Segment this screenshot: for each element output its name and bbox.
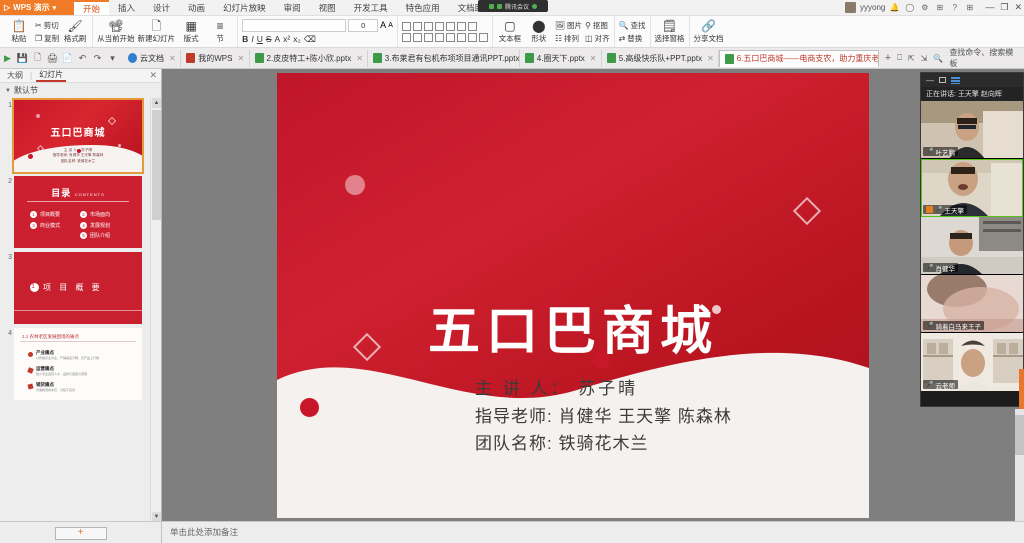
ribbon-group-share: 🔗 分享文档 — [690, 16, 728, 47]
work-area: 大纲 | 幻灯片 ✕ ▼ 默认节 1 五口巴商城 — [0, 69, 1024, 521]
help-icon[interactable]: ? — [949, 2, 960, 13]
meeting-indicator-icon — [532, 4, 537, 9]
slide-thumbnail-4[interactable]: 1.1 农林老区发展困境的痛点 产业痛点 以传统农业为主、产销渠道不畅，农产品上… — [14, 328, 142, 400]
thumb-title: 目录 CONTENTS — [14, 186, 142, 199]
selection-pane-label: 选择窗格 — [655, 33, 685, 44]
pptx-file-icon — [373, 53, 382, 63]
slide-thumbnail-list[interactable]: 1 五口巴商城 主 讲 人： 苏子晴 指导老师: 肖健华 王天擎 陈森林 — [0, 98, 161, 522]
panel-tab-separator: | — [30, 71, 32, 80]
participant-name: 肖健华 — [935, 263, 955, 273]
current-slide-canvas[interactable]: 五口巴商城 主 讲 人： 苏子晴 指导老师: 肖健华 王天擎 陈森林 团队名称:… — [277, 73, 869, 518]
decor-dot — [36, 114, 40, 118]
layout-label: 版式 — [184, 33, 199, 44]
doc-tab-2[interactable]: 2.皮皮特工+陈小欣.pptx ✕ — [250, 50, 368, 67]
paragraph-row-2 — [402, 33, 488, 42]
panel-tab-slides[interactable]: 幻灯片 — [36, 69, 66, 82]
decor-dot — [300, 398, 319, 417]
scroll-up-arrow-icon[interactable]: ▲ — [152, 98, 161, 108]
doc-tab-3[interactable]: 3.布莱君有包机布项项目通讯PPT.pptx ✕ — [368, 50, 520, 67]
section-label: 默认节 — [14, 85, 38, 96]
bullet-icon — [27, 367, 33, 373]
toc-item: 市场面向 — [90, 212, 110, 218]
avatar[interactable] — [845, 2, 856, 13]
selection-pane-icon: 🗒 — [662, 20, 677, 32]
notes-bar: + 单击此处添加备注 — [0, 521, 1024, 543]
minimize-button[interactable]: — — [985, 2, 994, 13]
participant-nametag-5: 🎤 云老师 — [923, 380, 958, 389]
close-icon[interactable]: ✕ — [707, 54, 714, 63]
picture-label: 图片 — [567, 20, 582, 31]
meeting-title: 腾讯会议 — [505, 2, 529, 11]
meeting-panel-titlebar: — — [921, 73, 1023, 87]
ribbon-tab-developer[interactable]: 开发工具 — [345, 0, 397, 15]
pptx-file-icon — [607, 53, 616, 63]
list-item[interactable]: 1 五口巴商城 主 讲 人： 苏子晴 指导老师: 肖健华 王天擎 陈森林 — [0, 98, 161, 174]
toc-badge: 4 — [80, 222, 87, 229]
scissors-icon: ✂ — [35, 21, 42, 30]
doc-tab-label: 云文档 — [140, 53, 164, 64]
vertical-align-icon[interactable] — [457, 33, 466, 42]
expand-ribbon-icon[interactable]: ⇲ — [921, 54, 928, 63]
search-icon: 🔍 — [619, 21, 629, 30]
ribbon-group-paragraph — [398, 16, 493, 47]
byline-presenter: 主 讲 人： 苏子晴 — [475, 375, 732, 403]
item-desc: 缺少专业运营人才，品牌打造能力薄弱 — [36, 372, 87, 376]
slide-thumbnail-1[interactable]: 五口巴商城 主 讲 人： 苏子晴 指导老师: 肖健华 王天擎 陈森林 团队名称:… — [14, 100, 142, 172]
thumb-item-3: 销货痛点 仓储物流成本高、冷链不完善 — [36, 382, 75, 392]
participant-tile-2[interactable]: 🎤 王天擎 — [921, 159, 1023, 217]
ribbon-tab-slideshow[interactable]: 幻灯片放映 — [214, 0, 275, 15]
print-preview-icon[interactable]: 🗋 — [32, 53, 43, 64]
ribbon-tab-view[interactable]: 视图 — [310, 0, 345, 15]
thumb-title-text: 项 目 概 要 — [43, 283, 103, 292]
toc-item: 发展规划 — [90, 223, 110, 229]
new-slide-icon: 🗋 — [152, 20, 162, 32]
cutout-label: 抠图 — [593, 20, 608, 31]
doc-tab-my-wps[interactable]: 我的WPS ✕ — [181, 50, 249, 67]
new-tab-button[interactable]: + — [879, 52, 897, 64]
doc-tab-label: 5.高级快乐队+PPT.pptx — [619, 53, 702, 64]
participant-tile-5[interactable]: 🎤 云老师 — [921, 333, 1023, 391]
paste-button[interactable]: 📋 粘贴 — [6, 17, 32, 47]
copy-label: 复制 — [44, 33, 59, 44]
toc-badge: 3 — [30, 222, 37, 229]
thumb-subtitle: CONTENTS — [75, 192, 105, 197]
wps-start-icon[interactable]: ▶ — [2, 53, 13, 64]
wps-logo-caret-icon[interactable]: ▾ — [53, 4, 57, 12]
thumb-title: 五口巴商城 — [14, 124, 142, 139]
toc-badge: 1 — [30, 211, 37, 218]
host-badge-icon — [926, 206, 933, 213]
byline-advisors: 指导老师: 肖健华 王天擎 陈森林 — [475, 403, 732, 431]
undo-icon[interactable]: ↶ — [77, 53, 88, 64]
play-slide-icon: 📽 — [108, 20, 123, 32]
doc-tab-4[interactable]: 4.圈天下.pptx ✕ — [520, 50, 602, 67]
restore-icon[interactable] — [939, 77, 946, 83]
text-direction-icon[interactable] — [457, 22, 466, 31]
slide-number: 3 — [2, 252, 12, 261]
copy-icon: ❐ — [35, 34, 42, 43]
mic-icon: 🎤 — [935, 206, 942, 213]
font-color-button[interactable]: A — [275, 34, 281, 44]
speaking-status: 正在讲话: 王天擎 赵向辉 — [921, 87, 1023, 101]
notification-bell-icon[interactable]: 🔔 — [889, 2, 900, 13]
meeting-floating-toolbar[interactable]: 腾讯会议 — [478, 0, 548, 12]
camera-status-icon[interactable] — [497, 4, 502, 9]
picture-icon: 🖼 — [555, 21, 565, 30]
find-label: 查找 — [631, 20, 646, 31]
new-slide-button[interactable]: 🗋 新建幻灯片 — [138, 17, 176, 47]
from-current-label: 从当前开始 — [97, 33, 135, 44]
mic-icon: 🎤 — [926, 381, 933, 388]
italic-button[interactable]: I — [251, 34, 253, 44]
distribute-icon[interactable] — [446, 33, 455, 42]
bullet-icon — [28, 352, 33, 357]
search-icon[interactable]: 🔍 — [933, 54, 943, 63]
ribbon-group-editing: 🔍 查找 ⇄ 替换 — [615, 16, 651, 47]
quick-access-toolbar: ▶ 💾 🗋 🖨 📄 ↶ ↷ ▾ — [2, 53, 123, 64]
close-icon[interactable]: ✕ — [237, 54, 244, 63]
side-panel-handle[interactable] — [1019, 369, 1024, 409]
close-icon[interactable]: ✕ — [590, 54, 597, 63]
stage-vertical-scrollbar[interactable] — [1015, 409, 1024, 521]
window-controls: — ❐ ✕ — [979, 2, 1022, 13]
slide-byline-block[interactable]: 主 讲 人： 苏子晴 指导老师: 肖健华 王天擎 陈森林 团队名称: 铁骑花木兰 — [475, 375, 732, 458]
clipboard-small-buttons: ✂ 剪切 ❐ 复制 — [35, 17, 59, 47]
bold-button[interactable]: B — [242, 34, 248, 44]
slide-editing-stage: 五口巴商城 主 讲 人： 苏子晴 指导老师: 肖健华 王天擎 陈森林 团队名称:… — [162, 69, 1024, 521]
columns-icon[interactable] — [468, 22, 477, 31]
fullscreen-icon[interactable]: ⊞ — [964, 2, 975, 13]
font-size-input[interactable]: 0 — [348, 19, 378, 32]
share-label: 分享文档 — [694, 33, 724, 44]
ribbon-tab-strip: 开始 插入 设计 动画 幻灯片放映 审阅 视图 开发工具 特色应用 文档助手 — [74, 0, 501, 15]
copy-button[interactable]: ❐ 复制 — [35, 33, 59, 44]
ribbon-tab-design[interactable]: 设计 — [144, 0, 179, 15]
toc-item: 团队介绍 — [90, 233, 110, 239]
add-slide-area: + — [0, 522, 162, 543]
textbox-icon: ▢ — [504, 20, 515, 32]
divider — [20, 341, 136, 342]
slide-thumbnail-2[interactable]: 目录 CONTENTS 1项目概要 3商业模式 2市场面向 4发展规划 5团队介… — [14, 176, 142, 248]
wps-logo-glyph: ▷ — [4, 3, 10, 12]
wps-logo[interactable]: ▷ WPS 演示 ▾ — [0, 0, 74, 15]
ribbon-tab-featured-apps[interactable]: 特色应用 — [397, 0, 449, 15]
document-tab-bar: ▶ 💾 🗋 🖨 📄 ↶ ↷ ▾ 云文档 ✕ 我的WPS ✕ 2.皮皮特工+陈小欣… — [0, 48, 1024, 69]
toc-column-left: 1项目概要 3商业模式 — [30, 210, 60, 231]
strikethrough-button[interactable]: S — [266, 34, 272, 44]
bullet-list-icon[interactable] — [402, 22, 411, 31]
toc-item: 项目概要 — [40, 212, 60, 218]
chevron-down-icon[interactable]: ▼ — [5, 88, 11, 94]
superscript-button[interactable]: x² — [283, 34, 290, 44]
replace-icon: ⇄ — [619, 34, 626, 43]
clear-format-button[interactable]: ⌫ — [304, 34, 316, 45]
decor-diamond — [793, 197, 821, 225]
underline-button[interactable]: U — [257, 34, 263, 44]
find-button[interactable]: 🔍 查找 — [619, 20, 646, 31]
scrollbar-thumb[interactable] — [1015, 415, 1024, 455]
mic-icon: 🎤 — [926, 264, 933, 271]
doc-tabs-right-tools: ⎕ ⇱ ⇲ 🔍 查找命令、搜索模板 — [897, 47, 1024, 69]
panel-tab-outline[interactable]: 大纲 — [4, 70, 26, 81]
slide-number: 4 — [2, 328, 12, 337]
doc-tab-label: 3.布莱君有包机布项项目通讯PPT.pptx — [385, 53, 520, 64]
subscript-button[interactable]: x₂ — [293, 34, 301, 44]
pptx-file-icon — [725, 54, 734, 64]
close-icon[interactable]: ✕ — [149, 70, 157, 81]
quick-access-more-icon[interactable]: ▾ — [107, 53, 118, 64]
gear-icon[interactable]: ⚙ — [919, 2, 930, 13]
slide-panel-header: 大纲 | 幻灯片 ✕ — [0, 69, 161, 83]
mic-icon: 🎤 — [926, 322, 933, 329]
align-right-icon[interactable] — [424, 33, 433, 42]
align-left-icon[interactable] — [402, 33, 411, 42]
participant-name: 骑着白马来王子 — [935, 321, 981, 331]
participant-name: 云老师 — [935, 380, 955, 390]
list-view-icon[interactable] — [951, 77, 960, 84]
brush-icon: 🖌 — [68, 20, 83, 32]
doc-tab-cloud[interactable]: 云文档 ✕ — [123, 50, 181, 67]
divider — [27, 201, 129, 202]
ribbon-group-panes: 🗒 选择窗格 — [651, 16, 690, 47]
wps-app-name: WPS 演示 — [13, 2, 49, 13]
layout-icon: ▦ — [186, 20, 197, 32]
from-current-slide-button[interactable]: 📽 从当前开始 — [97, 17, 135, 47]
mic-status-icon[interactable] — [489, 4, 494, 9]
convert-smartart-icon[interactable] — [468, 33, 477, 42]
meeting-panel[interactable]: — 正在讲话: 王天擎 赵向辉 — [920, 72, 1024, 407]
account-name[interactable]: yyyong — [860, 3, 885, 12]
ribbon-tab-review[interactable]: 审阅 — [275, 0, 310, 15]
decor-dot — [345, 175, 365, 195]
doc-tab-label: 我的WPS — [198, 53, 232, 64]
print-icon[interactable]: 🖨 — [47, 53, 58, 64]
arrange-icon: ☷ — [555, 34, 562, 43]
ribbon-group-font: 0 A A B I U S A x² x₂ ⌫ — [238, 16, 398, 47]
wps-file-icon — [186, 53, 195, 63]
insert-small-buttons-2: ⚲ 抠图 ◫ 对齐 — [585, 17, 610, 47]
textbox-button[interactable]: ▢ 文本框 — [497, 17, 523, 47]
arrange-label: 排列 — [564, 33, 579, 44]
format-painter-label: 格式刷 — [64, 33, 87, 44]
textbox-label: 文本框 — [499, 33, 522, 44]
cut-label: 剪切 — [44, 20, 59, 31]
replace-label: 替换 — [627, 33, 642, 44]
layout-button[interactable]: ▦ 版式 — [178, 17, 204, 47]
item-desc: 仓储物流成本高、冷链不完善 — [36, 388, 75, 392]
section-button[interactable]: ≡ 节 — [207, 17, 233, 47]
new-slide-label: 新建幻灯片 — [138, 33, 176, 44]
ribbon-group-slides: 📽 从当前开始 🗋 新建幻灯片 ▦ 版式 ≡ 节 — [93, 16, 238, 47]
line-spacing-icon[interactable] — [446, 22, 455, 31]
slide-panel-scrollbar[interactable]: ▲ ▼ — [150, 98, 161, 522]
bullet-icon — [27, 383, 33, 389]
align-button[interactable]: ◫ 对齐 — [585, 33, 610, 44]
list-item[interactable]: 4 1.1 农林老区发展困境的痛点 产业痛点 以传统农业为主、产销渠道不畅，农产… — [0, 326, 161, 402]
section-icon: ≡ — [217, 20, 224, 32]
scrollbar-thumb[interactable] — [152, 110, 161, 220]
cutout-button[interactable]: ⚲ 抠图 — [585, 20, 610, 31]
participant-nametag-2: 🎤 王天擎 — [923, 205, 967, 214]
toc-item: 商业模式 — [40, 223, 60, 229]
collapse-ribbon-icon[interactable]: ⇱ — [908, 54, 915, 63]
wps-presentation-window: ▷ WPS 演示 ▾ 开始 插入 设计 动画 幻灯片放映 审阅 视图 开发工具 … — [0, 0, 1024, 543]
close-button[interactable]: ✕ — [1014, 2, 1022, 13]
decrease-indent-icon[interactable] — [424, 22, 433, 31]
restore-window-icon[interactable]: ⎕ — [897, 53, 902, 63]
search-hint-label[interactable]: 查找命令、搜索模板 — [949, 47, 1020, 69]
paragraph-row-1 — [402, 22, 488, 31]
editing-buttons: 🔍 查找 ⇄ 替换 — [619, 17, 646, 47]
slide-number: 1 — [2, 100, 12, 109]
title-bar-right-tools: yyyong 🔔 ◯ ⚙ ⊞ ? ⊞ — ❐ ✕ — [845, 0, 1024, 15]
thumb-item-1: 产业痛点 以传统农业为主、产销渠道不畅，农产品上行难 — [36, 350, 99, 360]
bottom-band — [14, 310, 142, 324]
ribbon-toolbar: 📋 粘贴 ✂ 剪切 ❐ 复制 🖌 格式刷 📽 从当前开始 — [0, 16, 1024, 48]
mic-icon: 🎤 — [926, 148, 933, 155]
participant-nametag-4: 🎤 骑着白马来王子 — [923, 321, 984, 330]
increase-indent-icon[interactable] — [435, 22, 444, 31]
font-row-2: B I U S A x² x₂ ⌫ — [242, 34, 393, 45]
toc-column-right: 2市场面向 4发展规划 5团队介绍 — [80, 210, 110, 242]
share-icon: 🔗 — [701, 20, 716, 32]
byline-team: 团队名称: 铁骑花木兰 — [475, 430, 732, 458]
close-icon[interactable]: ✕ — [356, 54, 363, 63]
ribbon-tab-home[interactable]: 开始 — [74, 0, 109, 15]
thumb-title: 1项 目 概 要 — [30, 282, 103, 293]
new-document-icon[interactable]: 📄 — [62, 53, 73, 64]
format-painter-button[interactable]: 🖌 格式刷 — [62, 17, 88, 47]
cutout-icon: ⚲ — [585, 21, 591, 30]
participant-nametag-3: 🎤 肖健华 — [923, 263, 958, 272]
participant-name: 王天擎 — [944, 205, 964, 215]
shape-button[interactable]: ⬤ 形状 — [526, 17, 552, 47]
notes-placeholder[interactable]: 单击此处添加备注 — [170, 526, 238, 538]
add-slide-button[interactable]: + — [55, 527, 107, 540]
save-icon[interactable]: 💾 — [17, 53, 28, 64]
section-badge: 1 — [30, 283, 39, 292]
shape-icon: ⬤ — [532, 20, 545, 32]
item-desc: 以传统农业为主、产销渠道不畅，农产品上行难 — [36, 356, 99, 360]
selection-pane-button[interactable]: 🗒 选择窗格 — [655, 17, 685, 47]
cut-button[interactable]: ✂ 剪切 — [35, 20, 59, 31]
decrease-font-size-button[interactable]: A — [388, 22, 393, 29]
slide-number: 2 — [2, 176, 12, 185]
shape-label: 形状 — [531, 33, 546, 44]
minimize-icon[interactable]: — — [926, 76, 934, 85]
participant-tile-1[interactable]: 🎤 叶艺鹏 — [921, 101, 1023, 159]
backup-icon[interactable]: ⊞ — [934, 2, 945, 13]
thumb-line: 团队名称: 铁骑花木兰 — [14, 159, 142, 164]
thumb-item-2: 运营痛点 缺少专业运营人才，品牌打造能力薄弱 — [36, 366, 87, 376]
ribbon-tab-insert[interactable]: 插入 — [109, 0, 144, 15]
align-objects-icon: ◫ — [585, 34, 593, 43]
maximize-button[interactable]: ❐ — [1000, 2, 1008, 13]
thumb-title-text: 目录 — [51, 188, 71, 198]
participant-name: 叶艺鹏 — [935, 147, 955, 157]
close-icon[interactable]: ✕ — [169, 54, 176, 63]
increase-font-size-button[interactable]: A — [380, 20, 386, 30]
toc-badge: 5 — [80, 232, 87, 239]
font-name-input[interactable] — [242, 19, 346, 32]
insert-small-buttons: 🖼 图片 ☷ 排列 — [555, 17, 582, 47]
replace-button[interactable]: ⇄ 替换 — [619, 33, 646, 44]
list-item[interactable]: 3 1项 目 概 要 — [0, 250, 161, 326]
doc-tab-label: 4.圈天下.pptx — [537, 53, 585, 64]
slide-navigator-panel: 大纲 | 幻灯片 ✕ ▼ 默认节 1 五口巴商城 — [0, 69, 162, 521]
list-item[interactable]: 2 目录 CONTENTS 1项目概要 3商业模式 2市场面向 — [0, 174, 161, 250]
numbered-list-icon[interactable] — [413, 22, 422, 31]
paragraph-settings-icon[interactable] — [479, 33, 488, 42]
participant-nametag-1: 🎤 叶艺鹏 — [923, 147, 958, 156]
participant-tile-3[interactable]: 🎤 肖健华 — [921, 217, 1023, 275]
ribbon-group-insert: ▢ 文本框 ⬤ 形状 🖼 图片 ☷ 排列 ⚲ 抠图 — [493, 16, 615, 47]
participant-tile-4[interactable]: 🎤 骑着白马来王子 — [921, 275, 1023, 333]
doc-tab-label: 6.五口巴商城——电商支农，助力重庆老区.pptx — [737, 53, 879, 64]
slide-thumbnail-3[interactable]: 1项 目 概 要 — [14, 252, 142, 324]
doc-tab-label: 2.皮皮特工+陈小欣.pptx — [267, 53, 352, 64]
section-header-default[interactable]: ▼ 默认节 — [0, 83, 161, 98]
share-document-button[interactable]: 🔗 分享文档 — [694, 17, 724, 47]
align-label: 对齐 — [595, 33, 610, 44]
redo-icon[interactable]: ↷ — [92, 53, 103, 64]
decor-dot — [592, 351, 610, 369]
clipboard-icon: 📋 — [12, 20, 27, 32]
doc-tab-5[interactable]: 5.高级快乐队+PPT.pptx ✕ — [602, 50, 719, 67]
picture-button[interactable]: 🖼 图片 — [555, 20, 582, 31]
align-center-icon[interactable] — [413, 33, 422, 42]
pptx-file-icon — [255, 53, 264, 63]
justify-icon[interactable] — [435, 33, 444, 42]
doc-tab-6-active[interactable]: 6.五口巴商城——电商支农，助力重庆老区.pptx ✕ — [719, 50, 879, 67]
paste-label: 粘贴 — [12, 33, 27, 44]
thumb-heading: 1.1 农林老区发展困境的痛点 — [22, 334, 79, 340]
toc-badge: 2 — [80, 211, 87, 218]
pptx-file-icon — [525, 53, 534, 63]
sync-icon[interactable]: ◯ — [904, 2, 915, 13]
cloud-icon — [128, 53, 137, 63]
paragraph-controls — [402, 17, 488, 47]
section-label: 节 — [216, 33, 224, 44]
ribbon-group-clipboard: 📋 粘贴 ✂ 剪切 ❐ 复制 🖌 格式刷 — [2, 16, 93, 47]
arrange-button[interactable]: ☷ 排列 — [555, 33, 582, 44]
ribbon-tab-animation[interactable]: 动画 — [179, 0, 214, 15]
font-row-1: 0 A A — [242, 19, 393, 32]
font-controls: 0 A A B I U S A x² x₂ ⌫ — [242, 17, 393, 47]
